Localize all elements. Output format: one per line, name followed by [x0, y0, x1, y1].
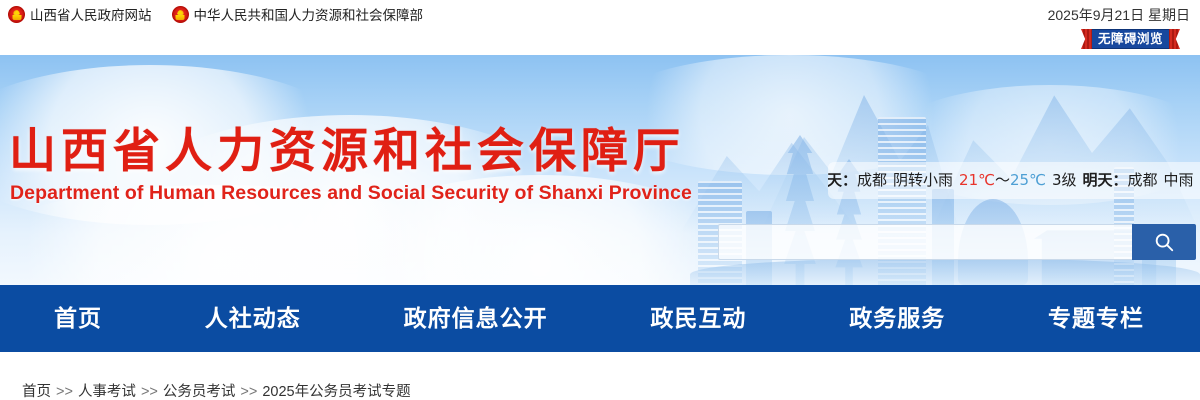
weather-today-separator: ～	[995, 171, 1010, 189]
breadcrumb: 首页>>人事考试>>公务员考试>>2025年公务员考试专题	[22, 380, 411, 400]
weather-today-condition: 阴转小雨	[893, 171, 953, 189]
weather-text: 今天：成都阴转小雨21℃～25℃3级明天：成都中雨20℃～24℃2	[828, 162, 1200, 199]
weather-today-city: 成都	[857, 171, 887, 189]
weather-marquee: 今天：成都阴转小雨21℃～25℃3级明天：成都中雨20℃～24℃2	[828, 162, 1200, 199]
gov-link-label: 山西省人民政府网站	[30, 4, 152, 24]
site-subtitle: Department of Human Resources and Social…	[10, 182, 692, 205]
breadcrumb-separator: >>	[235, 384, 262, 400]
national-emblem-icon	[172, 6, 189, 23]
site-banner: 山西省人力资源和社会保障厅 Department of Human Resour…	[0, 55, 1200, 285]
ribbon-left-icon	[1081, 29, 1092, 49]
accessibility-browse-button[interactable]: 无障碍浏览	[1081, 29, 1180, 49]
weather-tomorrow-condition: 中雨	[1164, 171, 1194, 189]
ribbon-right-icon	[1169, 29, 1180, 49]
weather-today-high: 25℃	[1010, 171, 1046, 189]
breadcrumb-item-current: 2025年公务员考试专题	[262, 384, 410, 400]
plaza-shape	[690, 259, 1200, 285]
nav-item-services[interactable]: 政务服务	[849, 285, 945, 352]
gov-link-label: 中华人民共和国人力资源和社会保障部	[194, 4, 424, 24]
nav-item-interaction[interactable]: 政民互动	[650, 285, 746, 352]
nav-item-news[interactable]: 人社动态	[205, 285, 301, 352]
top-bar: 山西省人民政府网站 中华人民共和国人力资源和社会保障部 2025年9月21日 星…	[0, 0, 1200, 55]
mountain-decoration	[930, 73, 1200, 233]
weather-tomorrow-city: 成都	[1128, 171, 1158, 189]
breadcrumb-item-home[interactable]: 首页	[22, 384, 51, 400]
page-root: 山西省人民政府网站 中华人民共和国人力资源和社会保障部 2025年9月21日 星…	[0, 0, 1200, 400]
national-emblem-icon	[8, 6, 25, 23]
search-icon	[1153, 231, 1175, 253]
search-input[interactable]	[718, 224, 1132, 260]
nav-item-home[interactable]: 首页	[54, 285, 102, 352]
main-navigation: 首页 人社动态 政府信息公开 政民互动 政务服务 专题专栏	[0, 285, 1200, 352]
pagoda-shape	[778, 135, 822, 285]
mountain-decoration	[760, 83, 960, 233]
breadcrumb-separator: >>	[136, 384, 163, 400]
nav-item-topics[interactable]: 专题专栏	[1048, 285, 1144, 352]
nav-item-disclosure[interactable]: 政府信息公开	[404, 285, 548, 352]
site-search	[718, 224, 1196, 260]
weather-today-low: 21℃	[959, 171, 995, 189]
site-title: 山西省人力资源和社会保障厅	[9, 126, 685, 177]
breadcrumb-separator: >>	[51, 384, 78, 400]
gov-site-links: 山西省人民政府网站 中华人民共和国人力资源和社会保障部	[8, 4, 423, 24]
weather-tomorrow-label: 明天：	[1082, 171, 1127, 189]
search-button[interactable]	[1132, 224, 1196, 260]
gov-link-shanxi-government[interactable]: 山西省人民政府网站	[8, 4, 152, 24]
accessibility-badge-label: 无障碍浏览	[1092, 29, 1169, 49]
current-date: 2025年9月21日 星期日	[1048, 5, 1190, 25]
gov-link-mohrss[interactable]: 中华人民共和国人力资源和社会保障部	[172, 4, 424, 24]
breadcrumb-item-exams[interactable]: 人事考试	[78, 384, 136, 400]
breadcrumb-item-civil-exam[interactable]: 公务员考试	[163, 384, 236, 400]
weather-today-wind: 3级	[1052, 171, 1077, 189]
weather-today-label: 今天：	[828, 171, 857, 189]
